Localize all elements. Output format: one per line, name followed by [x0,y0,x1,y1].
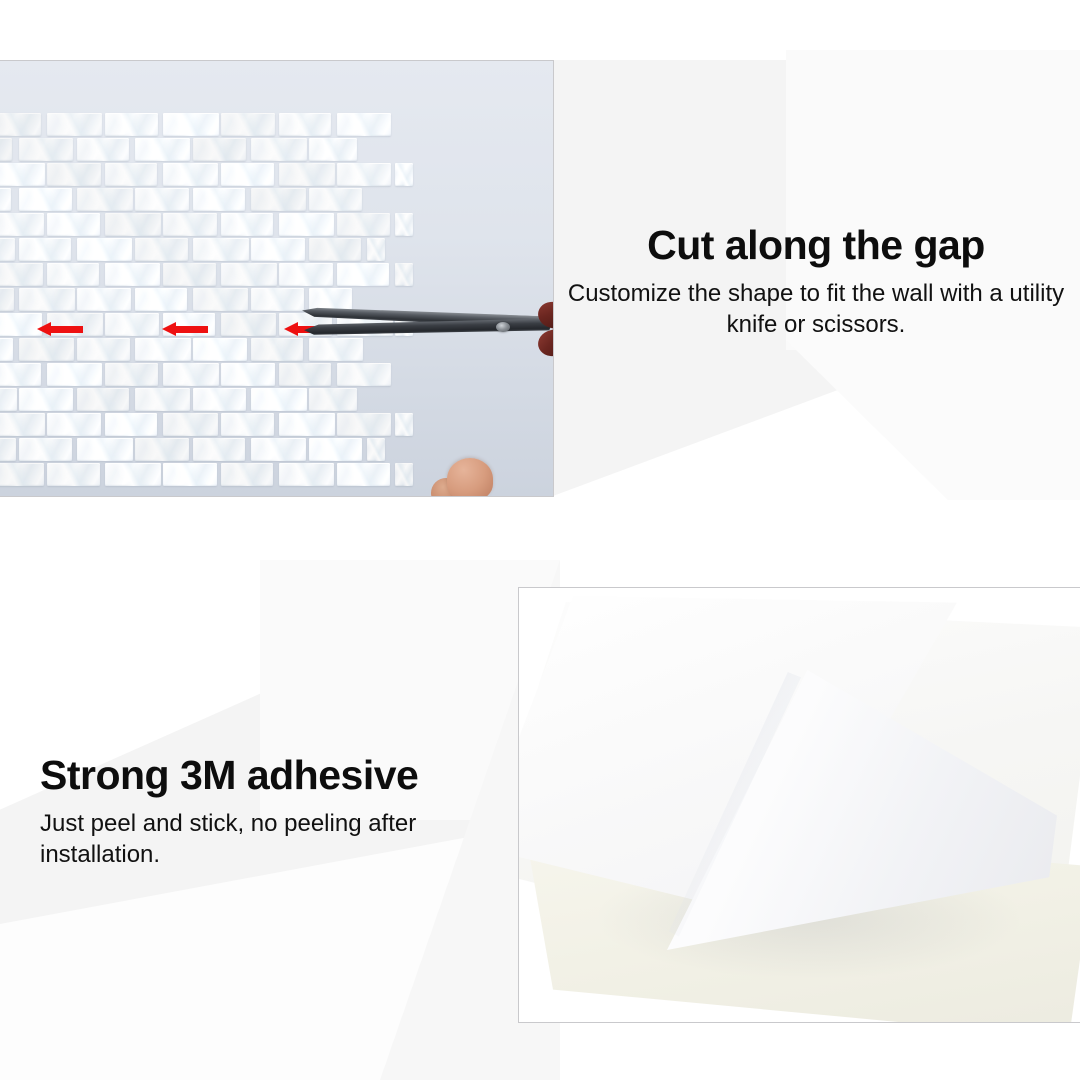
mosaic-tile [193,288,248,311]
mosaic-tile [47,213,100,236]
mosaic-tile [279,163,335,186]
mosaic-tile [309,438,362,461]
mosaic-tile [0,288,14,311]
mosaic-tile [0,263,43,286]
mosaic-tile-row [0,213,429,237]
scissors-handle-lower [535,327,554,359]
mosaic-tile [19,438,72,461]
mosaic-tile [279,213,334,236]
panel-adhesive-headline: Strong 3M adhesive [40,752,510,799]
mosaic-tile [279,463,334,486]
mosaic-tile [395,463,413,486]
mosaic-tile [367,238,385,261]
mosaic-tile [105,113,158,136]
mosaic-tile-row [0,138,429,162]
mosaic-tile [77,138,129,161]
mosaic-tile [105,213,161,236]
scissors-icon [302,306,554,358]
mosaic-tile [163,163,218,186]
mosaic-tile [77,188,133,211]
mosaic-tile [221,213,273,236]
mosaic-tile-row [0,438,429,462]
scissors-pivot-screw [496,322,510,332]
mosaic-tile [105,263,160,286]
mosaic-tile [135,438,189,461]
mosaic-tile [279,263,333,286]
panel-cut-text: Cut along the gap Customize the shape to… [560,222,1072,340]
mosaic-tile [193,388,246,411]
mosaic-tile [0,363,41,386]
mosaic-tile [337,413,391,436]
mosaic-tile [395,413,413,436]
mosaic-tile [395,213,413,236]
mosaic-tile [221,413,274,436]
photo-cut-along-gap [0,60,554,497]
mosaic-tile-row [0,388,429,412]
mosaic-tile [251,238,305,261]
mosaic-tile-row [0,263,429,287]
decor-triangle-top-right-lower [786,340,1080,500]
mosaic-tile [337,163,391,186]
mosaic-tile [395,163,413,186]
mosaic-tile [251,138,307,161]
mosaic-tile [135,388,190,411]
mosaic-tile [309,138,357,161]
mosaic-tile [0,338,13,361]
mosaic-tile [279,113,331,136]
panel-cut-headline: Cut along the gap [560,222,1072,269]
mosaic-tile [77,238,132,261]
mosaic-tile [0,238,15,261]
mosaic-tile [309,388,357,411]
mosaic-tile [135,238,188,261]
mosaic-tile [19,338,74,361]
mosaic-tile [19,188,72,211]
mosaic-tile [163,363,219,386]
mosaic-tile [221,163,274,186]
mosaic-tile [47,113,102,136]
mosaic-tile [47,363,102,386]
mosaic-tile [337,113,391,136]
mosaic-tile [163,113,219,136]
mosaic-tile [309,238,361,261]
mosaic-tile [47,263,99,286]
mosaic-tile [279,363,331,386]
mosaic-tile [251,438,306,461]
mosaic-tile [193,438,245,461]
mosaic-tile-row [0,463,429,487]
mosaic-tile [251,388,307,411]
mosaic-tile-sheet [0,113,429,497]
mosaic-tile [193,138,246,161]
mosaic-tile [337,363,391,386]
mosaic-tile [279,413,335,436]
mosaic-tile [47,463,100,486]
mosaic-tile [135,138,190,161]
mosaic-tile-row [0,413,429,437]
mosaic-tile [163,263,216,286]
mosaic-tile [0,463,44,486]
mosaic-tile [0,313,42,336]
mosaic-tile [193,338,247,361]
mosaic-tile [337,263,389,286]
mosaic-tile [221,263,277,286]
mosaic-tile [163,413,218,436]
mosaic-tile [77,438,133,461]
mosaic-tile [0,163,45,186]
mosaic-tile [135,288,187,311]
mosaic-tile [77,388,129,411]
panel-adhesive-subline: Just peel and stick, no peeling after in… [40,809,510,870]
mosaic-tile [105,413,157,436]
mosaic-tile [0,438,16,461]
mosaic-tile [0,188,11,211]
mosaic-tile [105,363,158,386]
mosaic-tile [221,363,275,386]
mosaic-tile [221,113,275,136]
mosaic-tile-row [0,238,429,262]
mosaic-tile [163,213,217,236]
mosaic-tile [193,238,249,261]
mosaic-tile [367,438,385,461]
mosaic-tile [251,338,303,361]
mosaic-tile [47,413,101,436]
mosaic-tile-row [0,188,429,212]
mosaic-tile [77,338,130,361]
photo-adhesive-sheet [518,587,1080,1023]
mosaic-tile [19,138,73,161]
mosaic-tile [163,463,217,486]
mosaic-tile [105,163,157,186]
infographic-canvas: Cut along the gap Customize the shape to… [0,0,1080,1080]
mosaic-tile [47,163,101,186]
panel-cut-subline: Customize the shape to fit the wall with… [560,279,1072,340]
mosaic-tile [251,188,306,211]
mosaic-tile [337,463,390,486]
mosaic-tile [251,288,304,311]
direction-arrow-1 [37,322,83,336]
mosaic-tile [309,188,362,211]
mosaic-tile [105,463,161,486]
mosaic-tile [19,288,75,311]
mosaic-tile [135,188,189,211]
mosaic-tile-row [0,363,429,387]
mosaic-tile [0,113,41,136]
hand-finger [447,458,493,497]
direction-arrow-2 [162,322,208,336]
mosaic-tile [19,238,71,261]
mosaic-tile [0,213,44,236]
mosaic-tile [395,263,413,286]
mosaic-tile [135,338,191,361]
mosaic-tile [221,463,273,486]
mosaic-tile [0,138,12,161]
mosaic-tile-row [0,113,429,137]
mosaic-tile [0,413,45,436]
mosaic-tile [221,313,276,336]
mosaic-tile [0,388,17,411]
panel-adhesive-text: Strong 3M adhesive Just peel and stick, … [40,752,510,870]
mosaic-tile [77,288,131,311]
mosaic-tile-row [0,163,429,187]
mosaic-tile [337,213,390,236]
mosaic-tile [105,313,159,336]
mosaic-tile [19,388,73,411]
mosaic-tile [193,188,245,211]
